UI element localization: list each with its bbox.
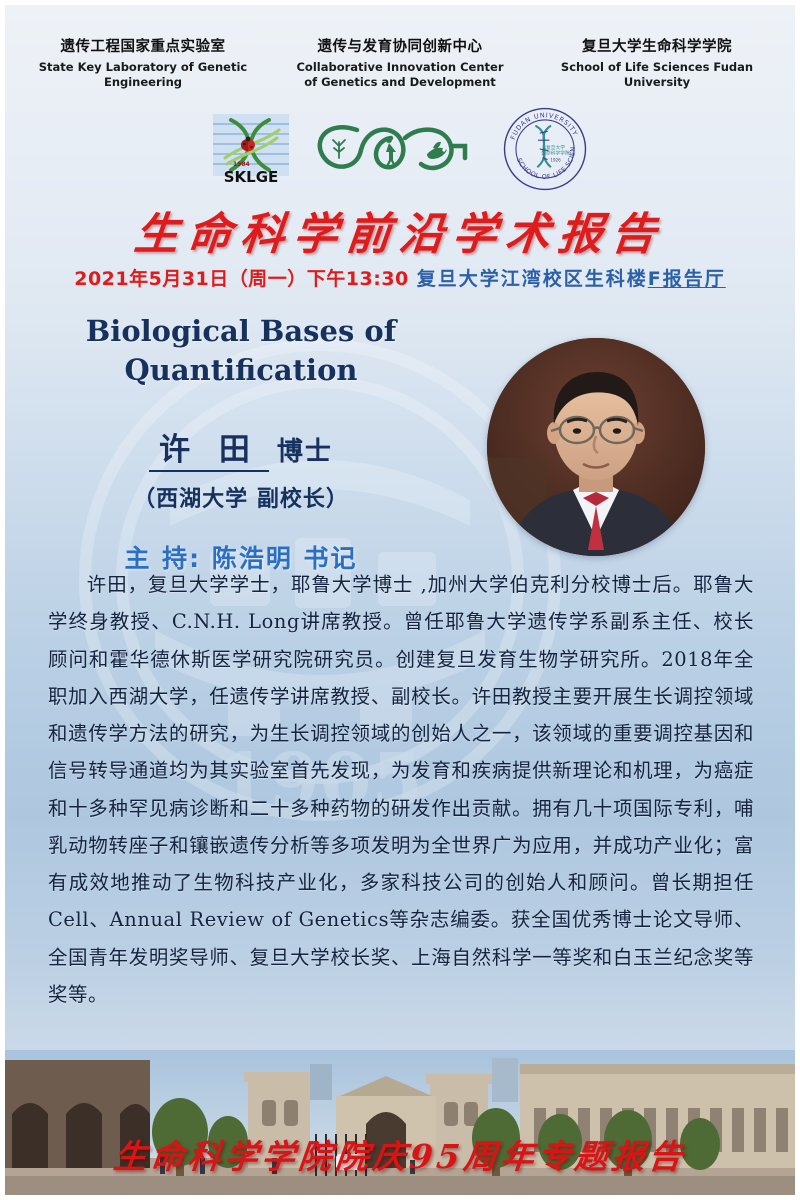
- org-sls-fudan-en: School of Life Sciences Fudan University: [550, 60, 765, 89]
- org-sklge-cn: 遗传工程国家重点实验室: [36, 38, 251, 57]
- venue-prefix: 复旦大学江湾校区生科楼: [417, 268, 648, 290]
- footer-banner: 生命科学学院院庆95周年专题报告: [0, 1130, 800, 1178]
- org-sls-fudan: 复旦大学生命科学学院 School of Life Sciences Fudan…: [550, 38, 765, 89]
- logo-row: 1984 SKLGE: [0, 108, 800, 190]
- talk-title: Biological Bases of Quantification: [36, 312, 446, 390]
- speaker-affiliation: （西湖大学 副校长）: [36, 481, 446, 513]
- csg-logo: [309, 114, 479, 184]
- seminar-poster: 1905 遗传工程国家重点实验室 State Key Laboratory of…: [0, 0, 800, 1200]
- org-sls-fudan-cn: 复旦大学生命科学学院: [550, 38, 765, 57]
- speaker-degree: 博士: [277, 437, 333, 467]
- talk-title-line2: Quantification: [36, 351, 446, 390]
- date-text: 2021年5月31日（周一）下午13:30: [74, 268, 409, 290]
- venue-text: 复旦大学江湾校区生科楼F报告厅: [417, 268, 726, 290]
- talk-info-block: Biological Bases of Quantification 许 田博士…: [36, 312, 446, 575]
- org-cicgd: 遗传与发育协同创新中心 Collaborative Innovation Cen…: [293, 38, 508, 89]
- sklge-logo: 1984 SKLGE: [211, 112, 291, 186]
- org-sklge: 遗传工程国家重点实验室 State Key Laboratory of Gene…: [36, 38, 251, 89]
- speaker-portrait: [487, 338, 705, 556]
- venue-room: F报告厅: [648, 268, 726, 290]
- speaker-biography: 许田，复旦大学学士，耶鲁大学博士 ,加州大学伯克利分校博士后。耶鲁大学终身教授、…: [48, 566, 754, 1013]
- talk-title-line1: Biological Bases of: [36, 312, 446, 351]
- svg-text:1926: 1926: [550, 157, 561, 162]
- svg-text:SKLGE: SKLGE: [224, 168, 279, 186]
- org-cicgd-en: Collaborative Innovation Center of Genet…: [293, 60, 508, 89]
- org-cicgd-cn: 遗传与发育协同创新中心: [293, 38, 508, 57]
- org-sklge-en: State Key Laboratory of Genetic Engineer…: [36, 60, 251, 89]
- header-organizations: 遗传工程国家重点实验室 State Key Laboratory of Gene…: [0, 38, 800, 89]
- date-venue-line: 2021年5月31日（周一）下午13:30复旦大学江湾校区生科楼F报告厅: [0, 264, 800, 291]
- svg-text:复旦大学: 复旦大学: [546, 144, 565, 151]
- page-title: 生命科学前沿学术报告: [0, 198, 800, 262]
- fudan-school-of-life-sciences-seal: FUDAN UNIVERSITY SCHOOL OF LIFE SCIENCES…: [501, 105, 589, 193]
- svg-text:1984: 1984: [233, 161, 250, 168]
- speaker-name: 许 田: [149, 432, 269, 472]
- speaker-line: 许 田博士: [36, 424, 446, 469]
